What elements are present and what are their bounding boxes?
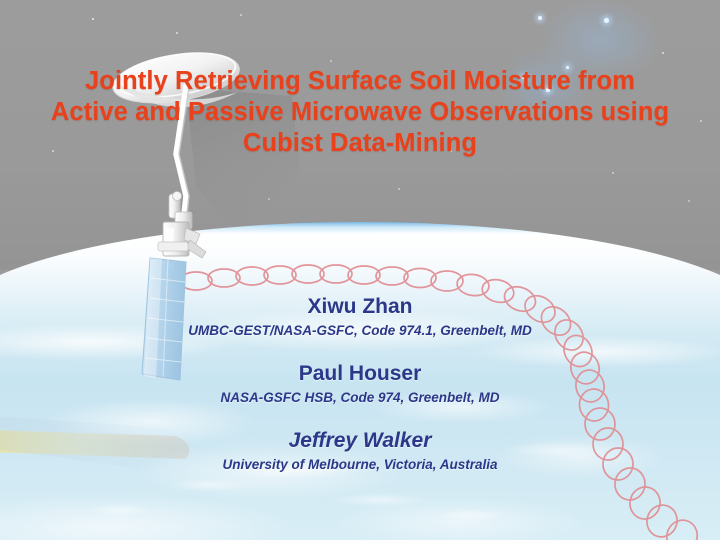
author-affiliation: UMBC-GEST/NASA-GSFC, Code 974.1, Greenbe…: [60, 321, 660, 340]
author-block: Paul Houser NASA-GSFC HSB, Code 974, Gre…: [60, 361, 660, 407]
author-affiliation: University of Melbourne, Victoria, Austr…: [60, 455, 660, 474]
title-line-2: Active and Passive Microwave Observation…: [22, 97, 698, 128]
author-affiliation: NASA-GSFC HSB, Code 974, Greenbelt, MD: [60, 388, 660, 407]
radiator-fin: [158, 242, 188, 251]
star-tracker: [173, 192, 182, 201]
author-name: Paul Houser: [60, 361, 660, 387]
author-list: Xiwu Zhan UMBC-GEST/NASA-GSFC, Code 974.…: [60, 294, 660, 474]
page-title: Jointly Retrieving Surface Soil Moisture…: [22, 66, 698, 159]
title-line-3: Cubist Data-Mining: [22, 128, 698, 159]
author-name: Xiwu Zhan: [60, 294, 660, 320]
title-line-1: Jointly Retrieving Surface Soil Moisture…: [22, 66, 698, 97]
author-block: Jeffrey Walker University of Melbourne, …: [60, 428, 660, 474]
author-block: Xiwu Zhan UMBC-GEST/NASA-GSFC, Code 974.…: [60, 294, 660, 340]
title-slide: Jointly Retrieving Surface Soil Moisture…: [0, 0, 720, 540]
author-name: Jeffrey Walker: [60, 428, 660, 454]
